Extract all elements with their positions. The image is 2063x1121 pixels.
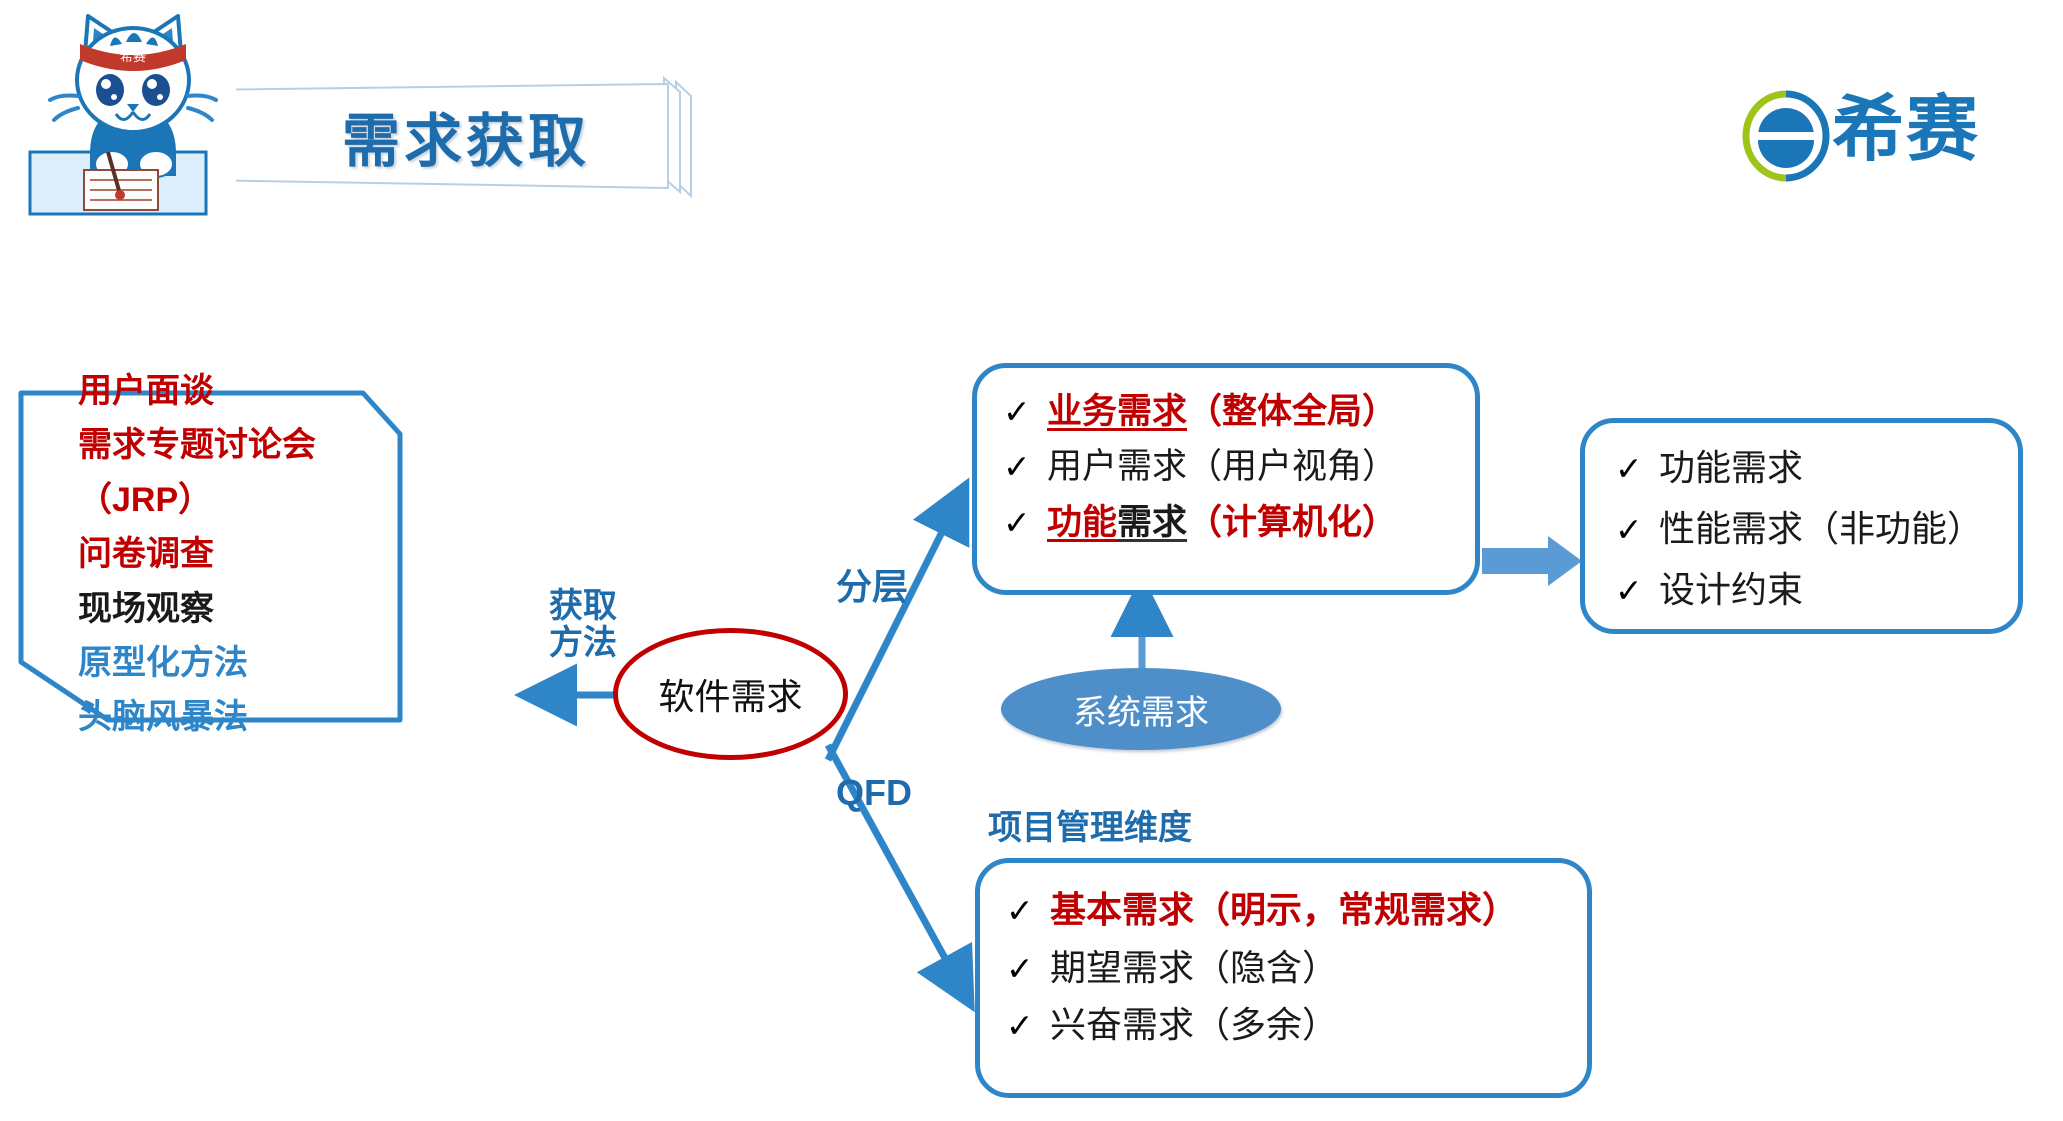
- requirement-name: 功能需求: [1659, 447, 1803, 488]
- slide-header: 希赛 需求获取: [0, 0, 2063, 250]
- requirement-note: （计算机化）: [1187, 503, 1397, 542]
- requirement-name: 性能需求（非功能）: [1659, 508, 1983, 549]
- requirement-name: 设计约束: [1659, 569, 1803, 610]
- list-item: ✓基本需求（明示，常规需求）: [1006, 881, 1587, 939]
- list-item: ✓性能需求（非功能）: [1615, 498, 2018, 559]
- system-requirement-label: 系统需求: [1073, 685, 1209, 734]
- block-arrow-right: [1482, 536, 1582, 586]
- check-icon: ✓: [1003, 441, 1047, 493]
- edge-label-line1: 获取: [528, 588, 638, 625]
- method-item: 需求专题讨论会: [78, 418, 408, 472]
- requirement-name: 业务需求: [1047, 392, 1187, 431]
- list-item: ✓功能需求: [1615, 437, 2018, 498]
- requirement-name: 基本需求: [1050, 889, 1194, 930]
- list-item: ✓期望需求（隐含）: [1006, 939, 1587, 997]
- check-icon: ✓: [1006, 1000, 1050, 1053]
- pm-dimension-heading: 项目管理维度: [988, 800, 1192, 849]
- requirement-name-part2: 需求: [1117, 503, 1187, 542]
- brand-name: 希赛: [1832, 82, 1980, 178]
- edge-label-acquisition-method: 获取 方法: [528, 588, 638, 663]
- requirement-note: （明示，常规需求）: [1194, 889, 1518, 930]
- requirement-note: （用户视角）: [1187, 447, 1397, 486]
- edge-label-layering: 分层: [836, 558, 908, 610]
- check-icon: ✓: [1615, 441, 1659, 497]
- list-item: ✓业务需求（整体全局）: [1003, 384, 1475, 439]
- slide-title-banner: 需求获取: [236, 78, 696, 194]
- system-requirement-node: 系统需求: [1001, 668, 1281, 750]
- requirement-name: 用户需求: [1047, 447, 1187, 486]
- svg-text:希赛: 希赛: [120, 49, 146, 64]
- check-icon: ✓: [1003, 497, 1047, 549]
- core-node-label: 软件需求: [658, 668, 802, 720]
- brand-logo: 希赛: [1740, 88, 2030, 184]
- layered-requirements-box: ✓业务需求（整体全局） ✓用户需求（用户视角） ✓功能需求（计算机化）: [972, 363, 1480, 595]
- requirement-note: （整体全局）: [1187, 392, 1397, 431]
- list-item: ✓用户需求（用户视角）: [1003, 439, 1475, 494]
- method-item: 原型化方法: [78, 636, 408, 690]
- check-icon: ✓: [1615, 502, 1659, 558]
- requirement-name: 兴奋需求: [1050, 1004, 1194, 1045]
- methods-panel: 用户面谈 需求专题讨论会 （JRP） 问卷调查 现场观察 原型化方法 头脑风暴法: [18, 390, 403, 762]
- methods-list: 用户面谈 需求专题讨论会 （JRP） 问卷调查 现场观察 原型化方法 头脑风暴法: [78, 364, 408, 745]
- requirement-name: 期望需求: [1050, 947, 1194, 988]
- list-item: ✓功能需求（计算机化）: [1003, 495, 1475, 550]
- method-item: 用户面谈: [78, 364, 408, 418]
- check-icon: ✓: [1006, 943, 1050, 996]
- requirement-note: （隐含）: [1194, 947, 1338, 988]
- check-icon: ✓: [1615, 563, 1659, 619]
- check-icon: ✓: [1003, 386, 1047, 438]
- requirement-note: （多余）: [1194, 1004, 1338, 1045]
- requirement-name-part1: 功能: [1047, 503, 1117, 542]
- functional-requirements-box: ✓功能需求 ✓性能需求（非功能） ✓设计约束: [1580, 418, 2023, 634]
- edge-label-line2: 方法: [528, 625, 638, 662]
- pm-requirements-box: ✓基本需求（明示，常规需求） ✓期望需求（隐含） ✓兴奋需求（多余）: [975, 858, 1592, 1098]
- method-item: （JRP）: [78, 473, 408, 527]
- list-item: ✓设计约束: [1615, 559, 2018, 620]
- xisai-cat-mascot-icon: 希赛: [28, 4, 238, 224]
- method-item: 问卷调查: [78, 527, 408, 581]
- method-item: 头脑风暴法: [78, 690, 408, 744]
- core-node-software-requirements: 软件需求: [613, 628, 848, 760]
- page-title: 需求获取: [236, 78, 696, 194]
- method-item: 现场观察: [78, 582, 408, 636]
- check-icon: ✓: [1006, 885, 1050, 938]
- edge-label-qfd: QFD: [836, 772, 912, 814]
- list-item: ✓兴奋需求（多余）: [1006, 996, 1587, 1054]
